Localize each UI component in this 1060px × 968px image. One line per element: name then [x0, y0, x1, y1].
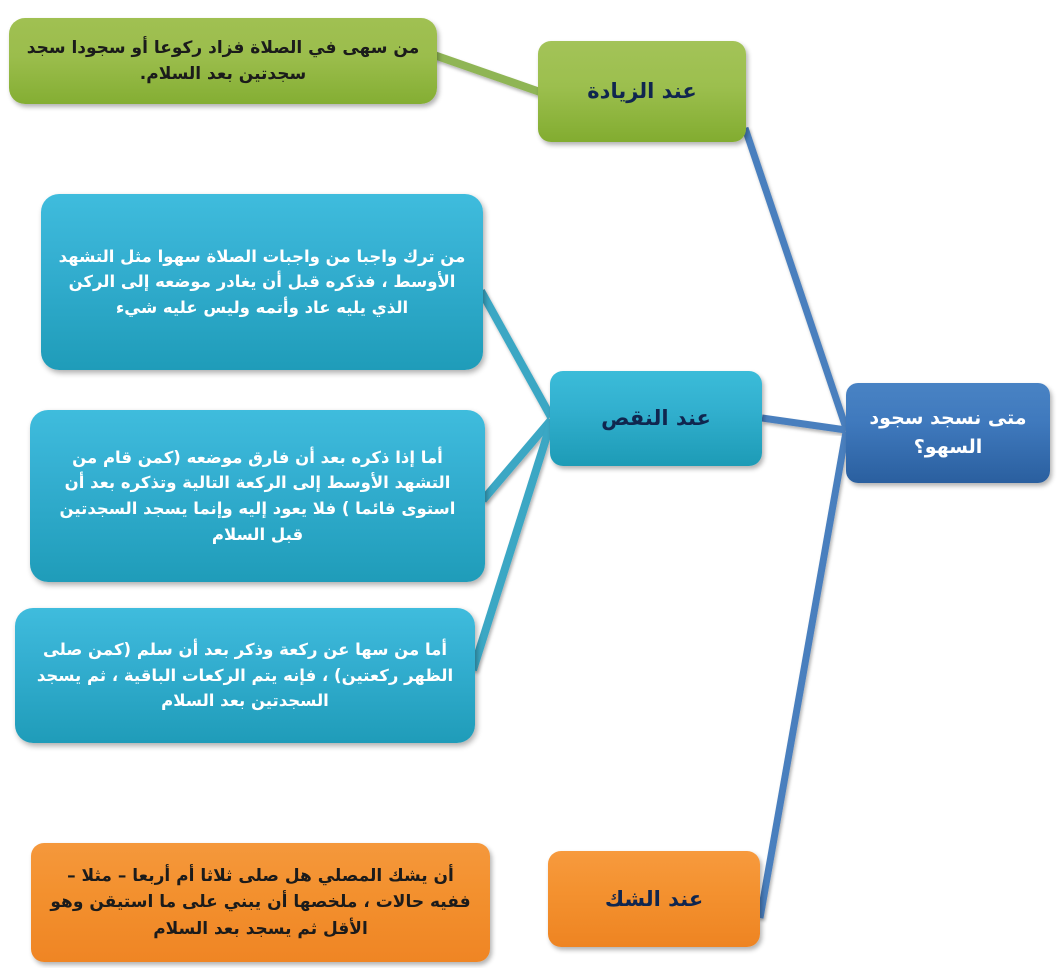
root-node-question[interactable]: متى نسجد سجود السهو؟ — [846, 383, 1050, 483]
detail-node-naqs-3[interactable]: أما من سها عن ركعة وذكر بعد أن سلم (كمن … — [15, 608, 475, 743]
connector-ziyada-to-detail-1 — [434, 55, 540, 92]
detail-node-naqs-2-label: أما إذا ذكره بعد أن فارق موضعه (كمن قام … — [44, 445, 471, 547]
branch-node-shak-label: عند الشك — [562, 883, 746, 916]
connector-root-to-shak — [760, 432, 846, 918]
detail-node-naqs-2[interactable]: أما إذا ذكره بعد أن فارق موضعه (كمن قام … — [30, 410, 485, 582]
branch-node-naqs[interactable]: عند النقص — [550, 371, 762, 466]
mind-map-diagram: متى نسجد سجود السهو؟ عند الزيادة من سهى … — [0, 0, 1060, 968]
branch-node-shak[interactable]: عند الشك — [548, 851, 760, 947]
branch-node-naqs-label: عند النقص — [564, 402, 748, 435]
connector-root-to-naqs — [762, 418, 846, 430]
detail-node-naqs-1-label: من ترك واجبا من واجبات الصلاة سهوا مثل ا… — [55, 244, 469, 321]
connector-naqs-to-detail-1 — [481, 291, 551, 417]
branch-node-ziyada-label: عند الزيادة — [552, 75, 732, 108]
connector-naqs-to-detail-2 — [483, 420, 551, 500]
root-node-label: متى نسجد سجود السهو؟ — [860, 404, 1036, 463]
detail-node-ziyada-1[interactable]: من سهى في الصلاة فزاد ركوعا أو سجودا سجد… — [9, 18, 437, 104]
detail-node-naqs-1[interactable]: من ترك واجبا من واجبات الصلاة سهوا مثل ا… — [41, 194, 483, 370]
branch-node-ziyada[interactable]: عند الزيادة — [538, 41, 746, 142]
detail-node-naqs-3-label: أما من سها عن ركعة وذكر بعد أن سلم (كمن … — [29, 637, 461, 714]
detail-node-ziyada-1-label: من سهى في الصلاة فزاد ركوعا أو سجودا سجد… — [23, 35, 423, 88]
detail-node-shak-1-label: أن يشك المصلي هل صلى ثلاثا أم أربعا – مث… — [45, 863, 476, 942]
detail-node-shak-1[interactable]: أن يشك المصلي هل صلى ثلاثا أم أربعا – مث… — [31, 843, 490, 962]
